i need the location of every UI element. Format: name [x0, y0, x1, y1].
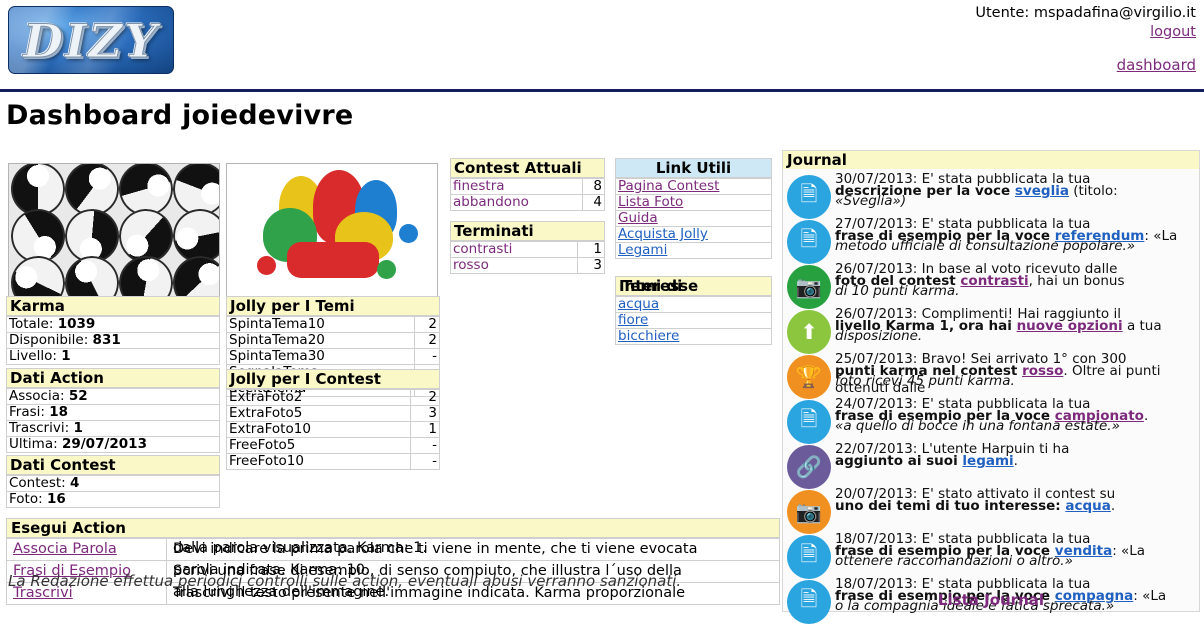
- row-label: SpintaTema20: [227, 333, 415, 349]
- journal-entry-line2: uno dei temi di tuo interesse: acqua.: [835, 498, 1197, 515]
- row-label: ExtraFoto5: [227, 406, 411, 422]
- table-row: Contest: 4: [7, 476, 220, 492]
- row-label: Frasi:: [9, 404, 45, 420]
- journal-entry-text: 27/07/2013: E' stata pubblicata la tuafr…: [835, 216, 1197, 233]
- dashboard-link-wrap: dashboard: [1117, 56, 1196, 74]
- journal-entry-line3: foto ricevi 45 punti karma.: [835, 373, 1197, 390]
- contest-count: 4: [582, 195, 604, 211]
- row-value: -: [411, 454, 440, 470]
- journal-entry-line3: «a quello di bocce in una fontana estate…: [835, 418, 1197, 435]
- journal-entry-text: 18/07/2013: E' stata pubblicata la tuafr…: [835, 531, 1197, 548]
- page-header: DIZY Utente: mspadafina@virgilio.it logo…: [0, 0, 1204, 88]
- row-label: Contest:: [9, 475, 66, 491]
- temi-interesse-panel: Interesse Temi di acqua fiore bicchiere: [615, 276, 772, 345]
- journal-entry-link[interactable]: acqua: [1065, 498, 1111, 514]
- list-item[interactable]: Pagina Contest: [616, 179, 772, 195]
- journal-entry: 🔗22/07/2013: L'utente Harpuin ti haaggiu…: [787, 443, 1197, 488]
- link-pagina-contest[interactable]: Pagina Contest: [618, 178, 719, 194]
- journal-entry: 📷26/07/2013: In base al voto ricevuto da…: [787, 263, 1197, 308]
- table-row[interactable]: finestra8: [451, 179, 605, 195]
- lista-journal-link[interactable]: Lista Journal: [783, 591, 1199, 609]
- user-email: mspadafina@virgilio.it: [1034, 5, 1196, 21]
- link-guida[interactable]: Guida: [618, 210, 658, 226]
- journal-entry-suffix: .: [1111, 498, 1115, 514]
- karma-panel: Karma Totale: 1039 Disponibile: 831 Live…: [6, 296, 220, 365]
- contest-count: 1: [578, 242, 605, 258]
- table-row: ExtraFoto53: [227, 406, 440, 422]
- document-icon: 🗎: [787, 535, 831, 579]
- row-value: 2: [411, 390, 440, 406]
- row-value: 1: [411, 422, 440, 438]
- contest-link[interactable]: finestra: [451, 179, 583, 195]
- terminati-title: Terminati: [450, 221, 605, 241]
- list-item[interactable]: bicchiere: [616, 329, 772, 345]
- journal-entry: 🗎18/07/2013: E' stata pubblicata la tuaf…: [787, 533, 1197, 578]
- jolly-temi-title: Jolly per I Temi: [226, 296, 440, 316]
- temi-interesse-table: acqua fiore bicchiere: [615, 296, 772, 345]
- dashboard-link[interactable]: dashboard: [1117, 56, 1196, 74]
- contest-attuali-table: finestra8 abbandono4: [450, 178, 605, 211]
- list-item[interactable]: Legami: [616, 243, 772, 259]
- camera-icon: 📷: [787, 265, 831, 309]
- redazione-note: La Redazione effettua periodici controll…: [8, 572, 788, 590]
- jolly-contest-title: Jolly per I Contest: [226, 369, 440, 389]
- link-legami[interactable]: Legami: [618, 242, 667, 258]
- link-acquista-jolly[interactable]: Acquista Jolly: [618, 226, 708, 242]
- journal-entry: 🗎30/07/2013: E' stata pubblicata la tuad…: [787, 173, 1197, 218]
- contest-attuali-title: Contest Attuali: [450, 158, 605, 178]
- document-icon: 🗎: [787, 220, 831, 264]
- table-row: FreeFoto5-: [227, 438, 440, 454]
- row-label: FreeFoto5: [227, 438, 411, 454]
- dati-contest-panel: Dati Contest Contest: 4 Foto: 16: [6, 455, 220, 508]
- contest-link[interactable]: contrasti: [451, 242, 578, 258]
- journal-entry-text: 24/07/2013: E' stata pubblicata la tuafr…: [835, 396, 1197, 413]
- row-value: 16: [47, 491, 66, 507]
- header-divider: [0, 89, 1204, 92]
- karma-title: Karma: [6, 296, 220, 316]
- row-value: 1: [61, 348, 70, 364]
- table-row: Disponibile: 831: [7, 333, 220, 349]
- table-row: Associa: 52: [7, 389, 220, 405]
- document-icon: 🗎: [787, 175, 831, 219]
- journal-entry-text: 30/07/2013: E' stata pubblicata la tuade…: [835, 171, 1197, 188]
- row-value: 1: [73, 420, 82, 436]
- row-label: ExtraFoto10: [227, 422, 411, 438]
- journal-entry-prefix: uno dei temi di tuo interesse:: [835, 498, 1065, 514]
- table-row: SpintaTema102: [227, 317, 440, 333]
- table-row: ExtraFoto22: [227, 390, 440, 406]
- jolly-contest-table: ExtraFoto22 ExtraFoto53 ExtraFoto101 Fre…: [226, 389, 440, 470]
- row-value: 1039: [58, 316, 96, 332]
- row-value: -: [411, 438, 440, 454]
- list-item[interactable]: Lista Foto: [616, 195, 772, 211]
- list-item[interactable]: acqua: [616, 297, 772, 313]
- row-value: 4: [70, 475, 79, 491]
- contest-count: 3: [578, 258, 605, 274]
- tema-link-bicchiere[interactable]: bicchiere: [618, 328, 679, 344]
- table-row: SpintaTema202: [227, 333, 440, 349]
- list-item[interactable]: Guida: [616, 211, 772, 227]
- page-title: Dashboard joiedevivre: [6, 100, 353, 131]
- journal-entry-line3: disposizione.: [835, 328, 1197, 345]
- row-label: ExtraFoto2: [227, 390, 411, 406]
- table-row: ExtraFoto101: [227, 422, 440, 438]
- row-label: Disponibile:: [9, 332, 88, 348]
- journal-panel: Journal 🗎30/07/2013: E' stata pubblicata…: [782, 150, 1200, 612]
- logout-link[interactable]: logout: [1150, 24, 1196, 40]
- row-value: 2: [414, 317, 439, 333]
- upload-icon: ⬆: [787, 310, 831, 354]
- table-row: Livello: 1: [7, 349, 220, 365]
- journal-entry-text: 20/07/2013: E' stato attivato il contest…: [835, 486, 1197, 503]
- row-label: SpintaTema30: [227, 349, 415, 365]
- action-link-associa-parola[interactable]: Associa Parola: [13, 541, 117, 557]
- esegui-action-panel: Esegui Action Associa Parola Devi indica…: [6, 518, 780, 605]
- camera-icon: 📷: [787, 490, 831, 534]
- row-value: 18: [49, 404, 68, 420]
- link-utili-table: Pagina Contest Lista Foto Guida Acquista…: [615, 178, 772, 259]
- row-label: Trascrivi:: [9, 420, 69, 436]
- trophy-icon: 🏆: [787, 355, 831, 399]
- tema-link-fiore[interactable]: fiore: [618, 312, 648, 328]
- table-row[interactable]: abbandono4: [451, 195, 605, 211]
- temi-interesse-title: Interesse Temi di: [615, 276, 772, 296]
- dati-action-title: Dati Action: [6, 368, 220, 388]
- journal-entry: 🗎27/07/2013: E' stata pubblicata la tuaf…: [787, 218, 1197, 263]
- dati-action-panel: Dati Action Associa: 52 Frasi: 18 Trascr…: [6, 368, 220, 453]
- table-row: Ultima: 29/07/2013: [7, 437, 220, 453]
- journal-entry-line2: aggiunto ai suoi legami.: [835, 453, 1197, 470]
- contest-link[interactable]: abbandono: [451, 195, 583, 211]
- journal-entry-line3: «Sveglia»): [835, 193, 1197, 210]
- journal-entry-link[interactable]: legami: [962, 453, 1013, 469]
- row-label: Ultima:: [9, 436, 58, 452]
- journal-entry: 📷20/07/2013: E' stato attivato il contes…: [787, 488, 1197, 533]
- esegui-action-title: Esegui Action: [6, 518, 780, 538]
- journal-entry-prefix: aggiunto ai suoi: [835, 453, 962, 469]
- yin-yang-image: [8, 163, 220, 298]
- row-label: Foto:: [9, 491, 43, 507]
- row-label: SpintaTema10: [227, 317, 415, 333]
- link-utili-panel: Link Utili Pagina Contest Lista Foto Gui…: [615, 158, 772, 259]
- row-label: Livello:: [9, 348, 57, 364]
- user-prefix: Utente:: [975, 5, 1029, 21]
- row-label: Associa:: [9, 388, 65, 404]
- row-value: -: [414, 349, 439, 365]
- row-value: 2: [414, 333, 439, 349]
- table-row: Trascrivi: 1: [7, 421, 220, 437]
- table-row: FreeFoto10-: [227, 454, 440, 470]
- link-lista-foto[interactable]: Lista Foto: [618, 194, 683, 210]
- journal-entry-text: 25/07/2013: Bravo! Sei arrivato 1° con 3…: [835, 351, 1197, 368]
- table-row: Foto: 16: [7, 492, 220, 508]
- link-icon: 🔗: [787, 445, 831, 489]
- journal-entry: ⬆26/07/2013: Complimenti! Hai raggiunto …: [787, 308, 1197, 353]
- jolly-contest-panel: Jolly per I Contest ExtraFoto22 ExtraFot…: [226, 369, 440, 470]
- dati-action-table: Associa: 52 Frasi: 18 Trascrivi: 1 Ultim…: [6, 388, 220, 453]
- table-row: SpintaTema30-: [227, 349, 440, 365]
- journal-entry: 🗎24/07/2013: E' stata pubblicata la tuaf…: [787, 398, 1197, 443]
- row-value: 831: [93, 332, 121, 348]
- table-row: Totale: 1039: [7, 317, 220, 333]
- tema-link-acqua[interactable]: acqua: [618, 296, 659, 312]
- user-info: Utente: mspadafina@virgilio.it logout: [975, 4, 1196, 42]
- terminati-table: contrasti1 rosso3: [450, 241, 605, 274]
- list-item[interactable]: fiore: [616, 313, 772, 329]
- table-row[interactable]: rosso3: [451, 258, 605, 274]
- journal-title: Journal: [783, 151, 1199, 169]
- list-item[interactable]: Acquista Jolly: [616, 227, 772, 243]
- journal-entry-line3: metodo ufficiale di consultazione popola…: [835, 238, 1197, 255]
- row-label: FreeFoto10: [227, 454, 411, 470]
- yin-yang-tile: [115, 252, 178, 298]
- journal-entry-line3: di 10 punti karma.: [835, 283, 1197, 300]
- journal-entry-text: 22/07/2013: L'utente Harpuin ti haaggiun…: [835, 441, 1197, 458]
- row-label: Totale:: [9, 316, 53, 332]
- table-row[interactable]: contrasti1: [451, 242, 605, 258]
- jester-hat-image: [226, 163, 438, 298]
- row-value: 52: [69, 388, 88, 404]
- row-value: 3: [411, 406, 440, 422]
- journal-entry-suffix: .: [1014, 453, 1018, 469]
- row-value: 29/07/2013: [62, 436, 147, 452]
- contest-attuali-panel: Contest Attuali finestra8 abbandono4: [450, 158, 605, 211]
- dati-contest-table: Contest: 4 Foto: 16: [6, 475, 220, 508]
- table-row: Frasi: 18: [7, 405, 220, 421]
- contest-count: 8: [582, 179, 604, 195]
- journal-entry-text: 26/07/2013: Complimenti! Hai raggiunto i…: [835, 306, 1197, 323]
- journal-entry-line3: ottenere raccomandazioni o altro.»: [835, 553, 1197, 570]
- contest-link[interactable]: rosso: [451, 258, 578, 274]
- action-desc-overlap: dalla parola visualizzata. Karma: 1.: [173, 539, 779, 558]
- dizy-logo: DIZY: [8, 6, 174, 74]
- karma-table: Totale: 1039 Disponibile: 831 Livello: 1: [6, 316, 220, 365]
- terminati-panel: Terminati contrasti1 rosso3: [450, 221, 605, 274]
- logo-text: DIZY: [9, 14, 173, 68]
- journal-entry-text: 26/07/2013: In base al voto ricevuto dal…: [835, 261, 1197, 278]
- table-row: Associa Parola Devi indicare la prima pa…: [7, 539, 780, 561]
- link-utili-title: Link Utili: [615, 158, 772, 178]
- journal-entry: 🏆25/07/2013: Bravo! Sei arrivato 1° con …: [787, 353, 1197, 398]
- dati-contest-title: Dati Contest: [6, 455, 220, 475]
- temi-title-overlap: Temi di: [622, 277, 771, 295]
- document-icon: 🗎: [787, 400, 831, 444]
